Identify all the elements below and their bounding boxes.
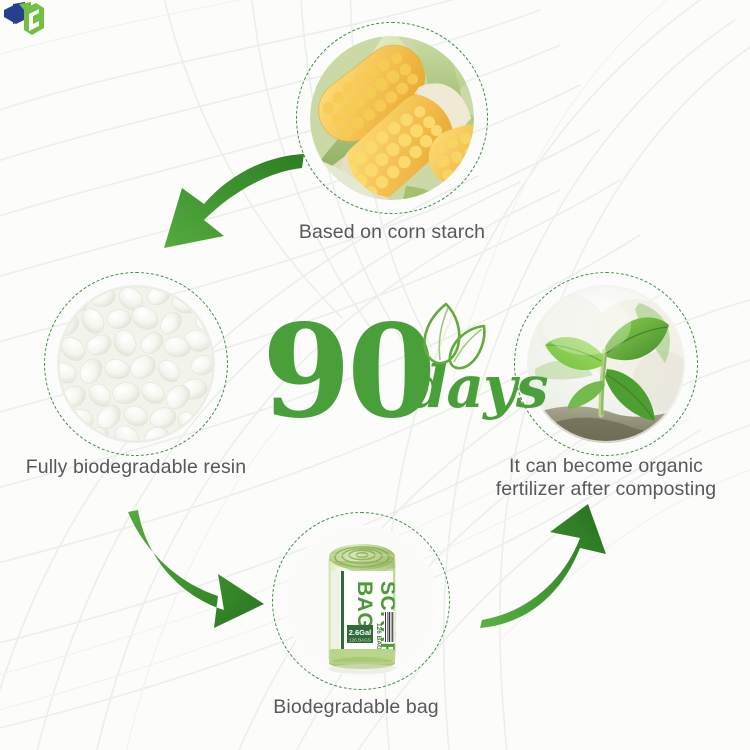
- node-resin[interactable]: [44, 272, 228, 456]
- corn-cob-photo[interactable]: [310, 36, 474, 200]
- scrap-bags-roll-photo[interactable]: SCRAP BAGS 2.6Gal 126 BAGS 126 BAGS: [285, 525, 437, 677]
- seedling-sprout-photo[interactable]: [527, 285, 685, 443]
- infographic-canvas: Based on corn starch: [0, 0, 750, 750]
- svg-text:2.6Gal: 2.6Gal: [349, 628, 372, 637]
- company-cube-logo[interactable]: [2, 2, 46, 42]
- caption-corn: Based on corn starch: [242, 221, 542, 244]
- caption-bag: Biodegradable bag: [206, 696, 506, 719]
- caption-compost: It can become organic fertilizer after c…: [456, 455, 750, 500]
- resin-pellets-photo[interactable]: [57, 285, 215, 443]
- ninety-days-badge: 90 days: [262, 300, 498, 440]
- arrow-bag-to-compost: [476, 502, 626, 630]
- two-leaf-icon: [410, 298, 492, 376]
- arrow-resin-to-bag: [118, 504, 278, 634]
- node-corn[interactable]: [296, 22, 488, 214]
- caption-resin: Fully biodegradable resin: [0, 456, 286, 479]
- svg-text:126 BAGS: 126 BAGS: [349, 638, 371, 643]
- node-bag[interactable]: SCRAP BAGS 2.6Gal 126 BAGS 126 BAGS: [272, 512, 450, 690]
